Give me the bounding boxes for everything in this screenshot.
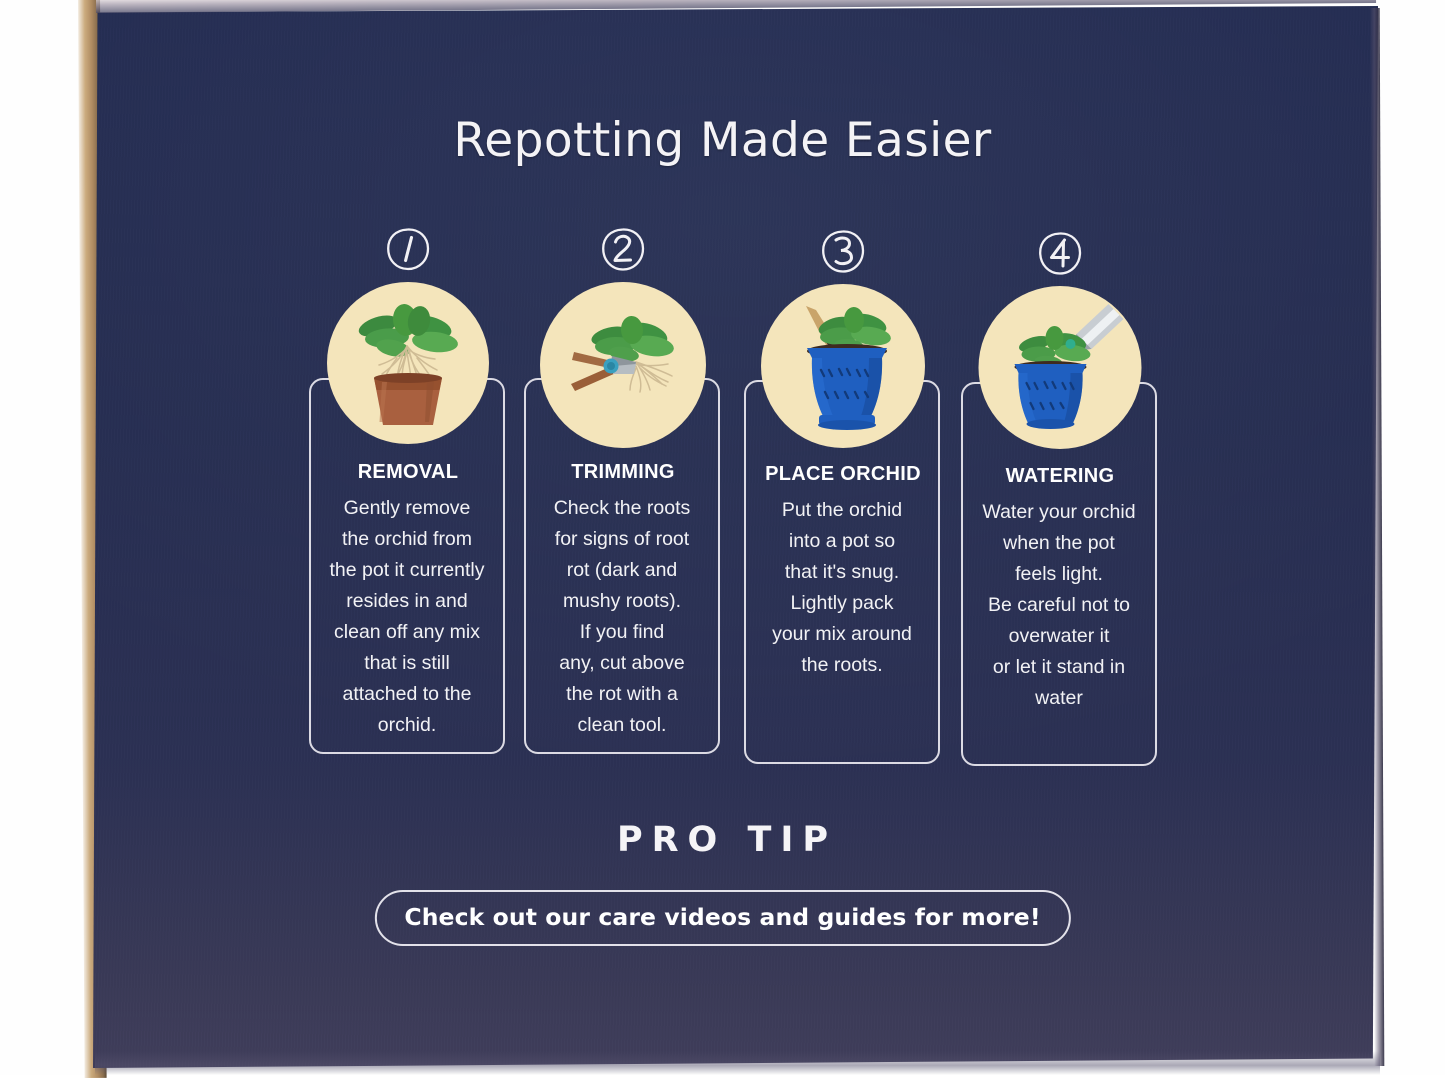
step-2: 2 <box>524 226 722 272</box>
watering-can-pouring-into-blue-pot-icon <box>979 286 1142 449</box>
step-icon-3 <box>761 284 925 448</box>
step-title-1: REMOVAL <box>309 461 507 484</box>
step-body-3: Put the orchid into a pot so that it's s… <box>746 495 938 681</box>
orchid-leaves <box>356 303 459 360</box>
step-number-badge-4: 4 <box>1037 230 1083 276</box>
step-icon-2 <box>540 282 706 448</box>
step-body-4: Water your orchid when the pot feels lig… <box>963 497 1155 714</box>
pro-tip-heading: PRO TIP <box>0 820 1445 860</box>
step-4: 4 <box>961 230 1159 276</box>
orchid-in-blue-pot-with-trowel-icon <box>761 284 925 448</box>
step-title-3: PLACE ORCHID <box>744 463 942 486</box>
step-icon-1 <box>327 282 489 444</box>
hand-drawn-circle-icon <box>385 226 431 272</box>
step-number-badge-2: 2 <box>600 226 646 272</box>
panel-content: Repotting Made Easier 1 <box>0 0 1445 1075</box>
pruning-shears-cutting-orchid-roots-icon <box>540 282 706 448</box>
blue-pot <box>1015 364 1087 429</box>
blue-pot <box>807 348 887 430</box>
step-body-2: Check the roots for signs of root rot (d… <box>526 493 718 741</box>
orchid-leaves <box>590 315 676 363</box>
step-number-badge-3: 3 <box>820 228 866 274</box>
terracotta-pot <box>374 373 442 425</box>
hand-drawn-circle-icon <box>820 228 866 274</box>
product-box-screenshot: Repotting Made Easier 1 <box>0 0 1445 1075</box>
step-title-2: TRIMMING <box>524 461 722 484</box>
step-1: 1 <box>309 226 507 272</box>
care-videos-banner: Check out our care videos and guides for… <box>374 890 1070 946</box>
step-title-4: WATERING <box>961 465 1159 488</box>
step-icon-4 <box>979 286 1142 449</box>
hand-drawn-circle-icon <box>600 226 646 272</box>
step-number-badge-1: 1 <box>385 226 431 272</box>
step-body-1: Gently remove the orchid from the pot it… <box>311 493 503 741</box>
orchid-bare-roots-over-terracotta-pot-icon <box>327 282 489 444</box>
orchid-roots <box>630 362 672 392</box>
hand-drawn-circle-icon <box>1037 230 1083 276</box>
step-3: 3 <box>744 228 942 274</box>
